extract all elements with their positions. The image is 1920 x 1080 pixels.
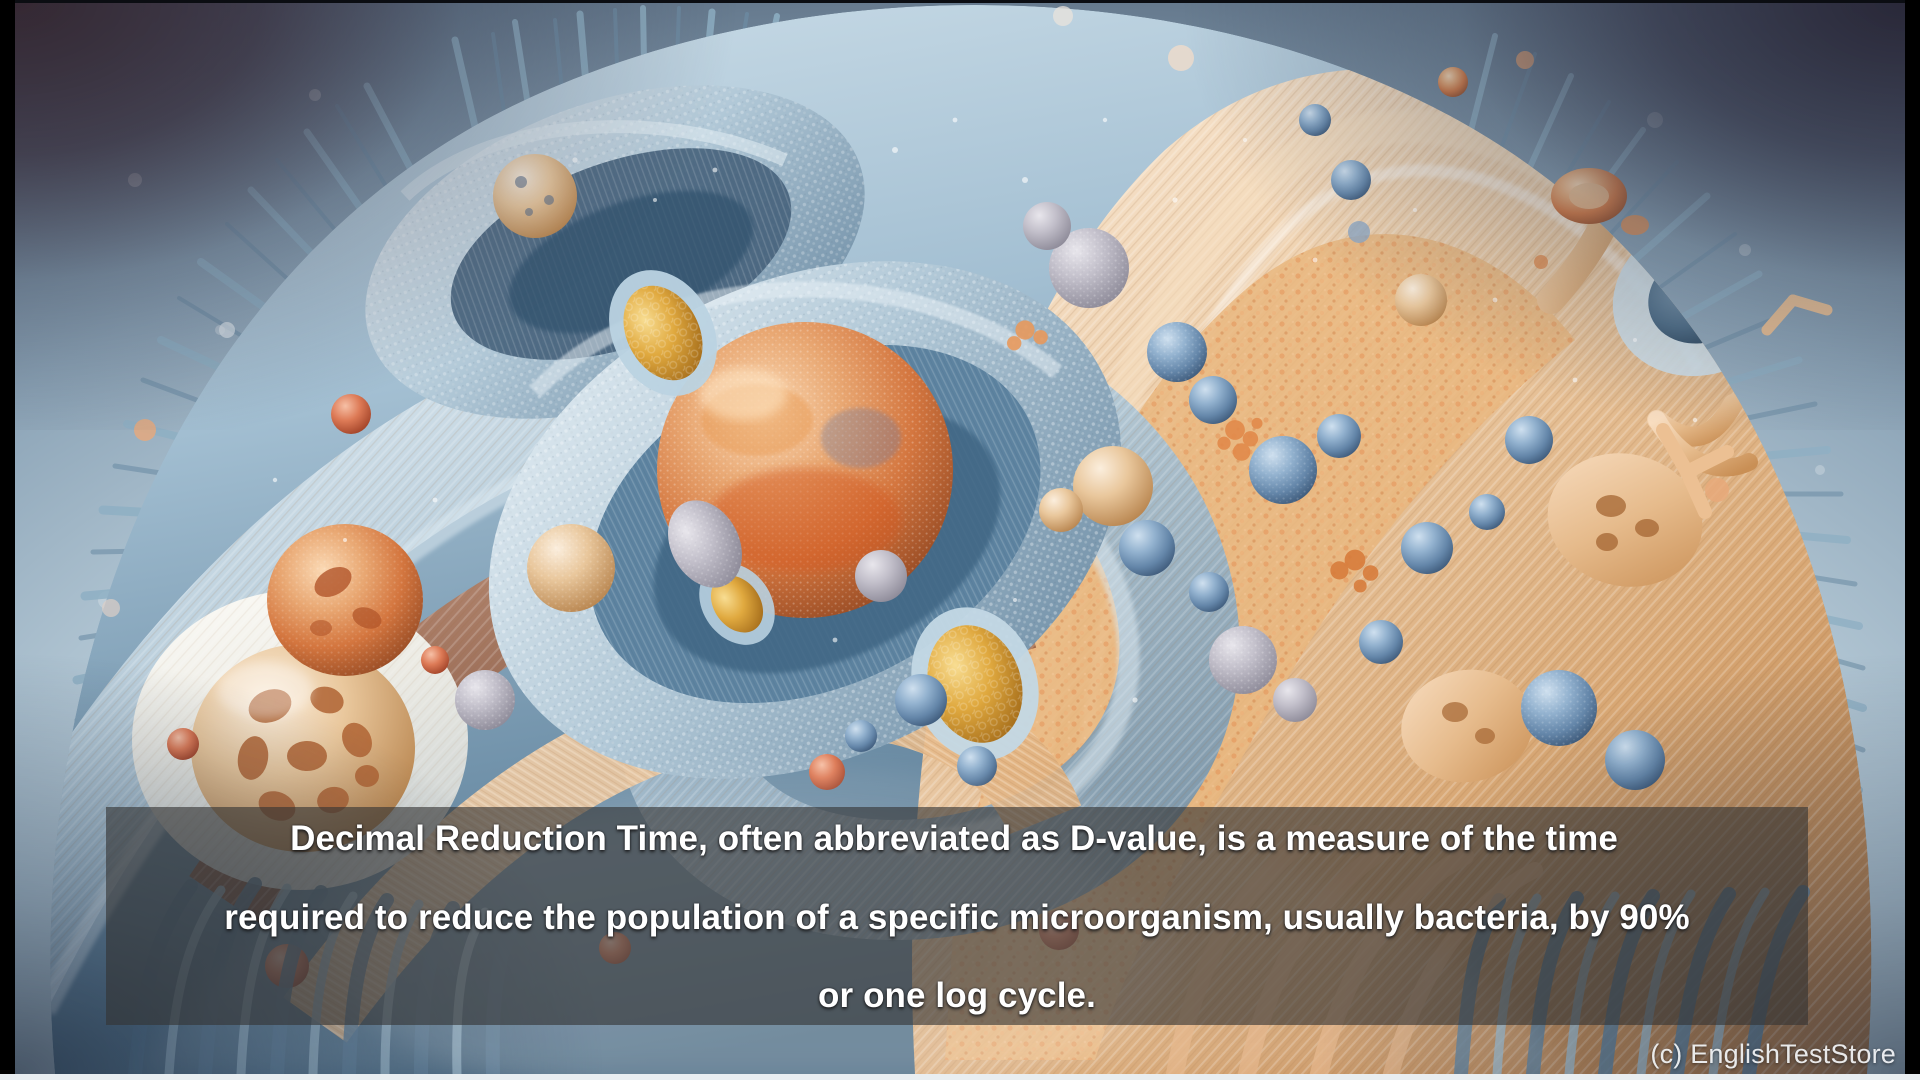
frame-bottom-border <box>0 1074 1920 1080</box>
caption-line-2: required to reduce the population of a s… <box>132 900 1782 937</box>
watermark-text: (c) EnglishTestStore <box>1650 1039 1896 1070</box>
screenshot-root: Decimal Reduction Time, often abbreviate… <box>0 0 1920 1080</box>
frame-left-border <box>0 0 15 1080</box>
caption-line-3: or one log cycle. <box>132 978 1782 1015</box>
caption-line-1: Decimal Reduction Time, often abbreviate… <box>132 821 1782 858</box>
caption-overlay: Decimal Reduction Time, often abbreviate… <box>106 807 1808 1025</box>
frame-top-border <box>0 0 1920 3</box>
frame-right-border <box>1905 0 1920 1080</box>
floating-disc-2 <box>1621 215 1649 235</box>
floating-disc-3 <box>1438 67 1468 97</box>
floating-disc-1 <box>1551 168 1627 224</box>
left-orange-cell <box>267 524 423 676</box>
